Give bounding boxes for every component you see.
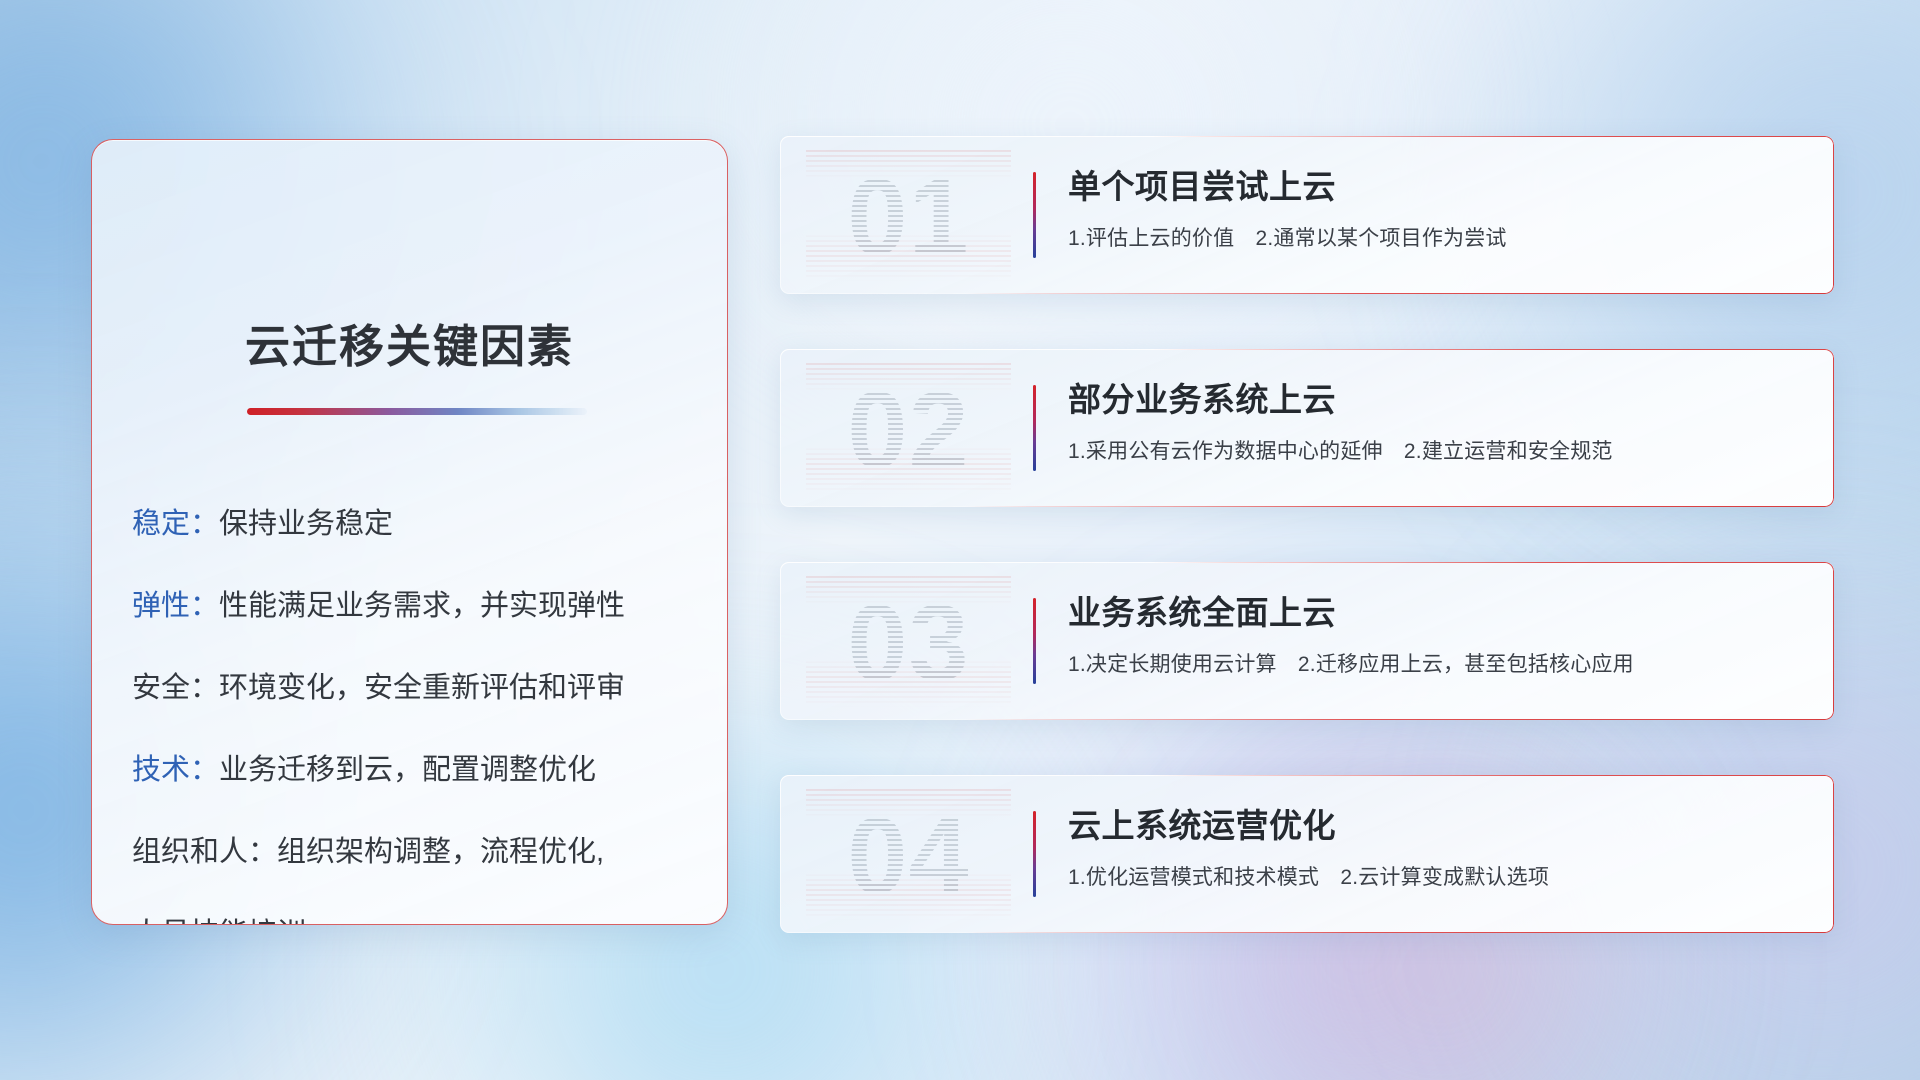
card-body: 业务系统全面上云1.决定长期使用云计算 2.迁移应用上云，甚至包括核心应用 — [1068, 592, 1810, 678]
card-body: 部分业务系统上云1.采用公有云作为数据中心的延伸 2.建立运营和安全规范 — [1068, 379, 1810, 465]
card-divider-bar — [1033, 598, 1036, 684]
factor-list: 稳定：保持业务稳定弹性：性能满足业务需求，并实现弹性安全：环境变化，安全重新评估… — [132, 510, 703, 925]
factor-label: 弹性： — [132, 590, 219, 622]
card-divider-bar — [1033, 385, 1036, 471]
factor-row: 人员技能培训 — [132, 920, 703, 925]
card-divider-bar — [1033, 172, 1036, 258]
factor-text: 环境变化，安全重新评估和评审 — [219, 672, 625, 704]
factor-text: 人员技能培训 — [132, 918, 306, 925]
card-title: 云上系统运营优化 — [1068, 805, 1810, 846]
card-body: 单个项目尝试上云1.评估上云的价值 2.通常以某个项目作为尝试 — [1068, 166, 1810, 252]
card-description: 1.决定长期使用云计算 2.迁移应用上云，甚至包括核心应用 — [1068, 648, 1810, 678]
key-factors-panel: 云迁移关键因素 稳定：保持业务稳定弹性：性能满足业务需求，并实现弹性安全：环境变… — [91, 139, 728, 925]
card-description: 1.优化运营模式和技术模式 2.云计算变成默认选项 — [1068, 861, 1810, 891]
factor-row: 组织和人：组织架构调整，流程优化, — [132, 838, 703, 867]
factor-label: 组织和人： — [132, 836, 277, 868]
stage-card[interactable]: 04云上系统运营优化1.优化运营模式和技术模式 2.云计算变成默认选项 — [780, 775, 1834, 933]
stage-card[interactable]: 03业务系统全面上云1.决定长期使用云计算 2.迁移应用上云，甚至包括核心应用 — [780, 562, 1834, 720]
factor-label: 技术： — [132, 754, 219, 786]
card-title: 业务系统全面上云 — [1068, 592, 1810, 633]
stage-number-watermark: 02 — [806, 363, 1011, 495]
factor-text: 性能满足业务需求，并实现弹性 — [219, 590, 625, 622]
card-divider-bar — [1033, 811, 1036, 897]
factor-label: 安全： — [132, 672, 219, 704]
factor-row: 稳定：保持业务稳定 — [132, 510, 703, 539]
card-body: 云上系统运营优化1.优化运营模式和技术模式 2.云计算变成默认选项 — [1068, 805, 1810, 891]
factor-row: 安全：环境变化，安全重新评估和评审 — [132, 674, 703, 703]
card-title: 单个项目尝试上云 — [1068, 166, 1810, 207]
page-title: 云迁移关键因素 — [92, 310, 727, 375]
stage-card[interactable]: 01单个项目尝试上云1.评估上云的价值 2.通常以某个项目作为尝试 — [780, 136, 1834, 294]
title-underline-gradient — [247, 408, 587, 415]
slide-stage: 云迁移关键因素 稳定：保持业务稳定弹性：性能满足业务需求，并实现弹性安全：环境变… — [0, 0, 1920, 1080]
factor-row: 弹性：性能满足业务需求，并实现弹性 — [132, 592, 703, 621]
card-description: 1.采用公有云作为数据中心的延伸 2.建立运营和安全规范 — [1068, 435, 1810, 465]
factor-label: 稳定： — [132, 508, 219, 540]
card-description: 1.评估上云的价值 2.通常以某个项目作为尝试 — [1068, 222, 1810, 252]
stage-card[interactable]: 02部分业务系统上云1.采用公有云作为数据中心的延伸 2.建立运营和安全规范 — [780, 349, 1834, 507]
stage-number-watermark: 04 — [806, 789, 1011, 921]
stage-number-watermark: 03 — [806, 576, 1011, 708]
stage-card-list: 01单个项目尝试上云1.评估上云的价值 2.通常以某个项目作为尝试02部分业务系… — [780, 136, 1834, 933]
factor-text: 保持业务稳定 — [219, 508, 393, 540]
factor-row: 技术：业务迁移到云，配置调整优化 — [132, 756, 703, 785]
card-title: 部分业务系统上云 — [1068, 379, 1810, 420]
factor-text: 业务迁移到云，配置调整优化 — [219, 754, 596, 786]
factor-text: 组织架构调整，流程优化, — [277, 836, 604, 868]
stage-number-watermark: 01 — [806, 150, 1011, 282]
